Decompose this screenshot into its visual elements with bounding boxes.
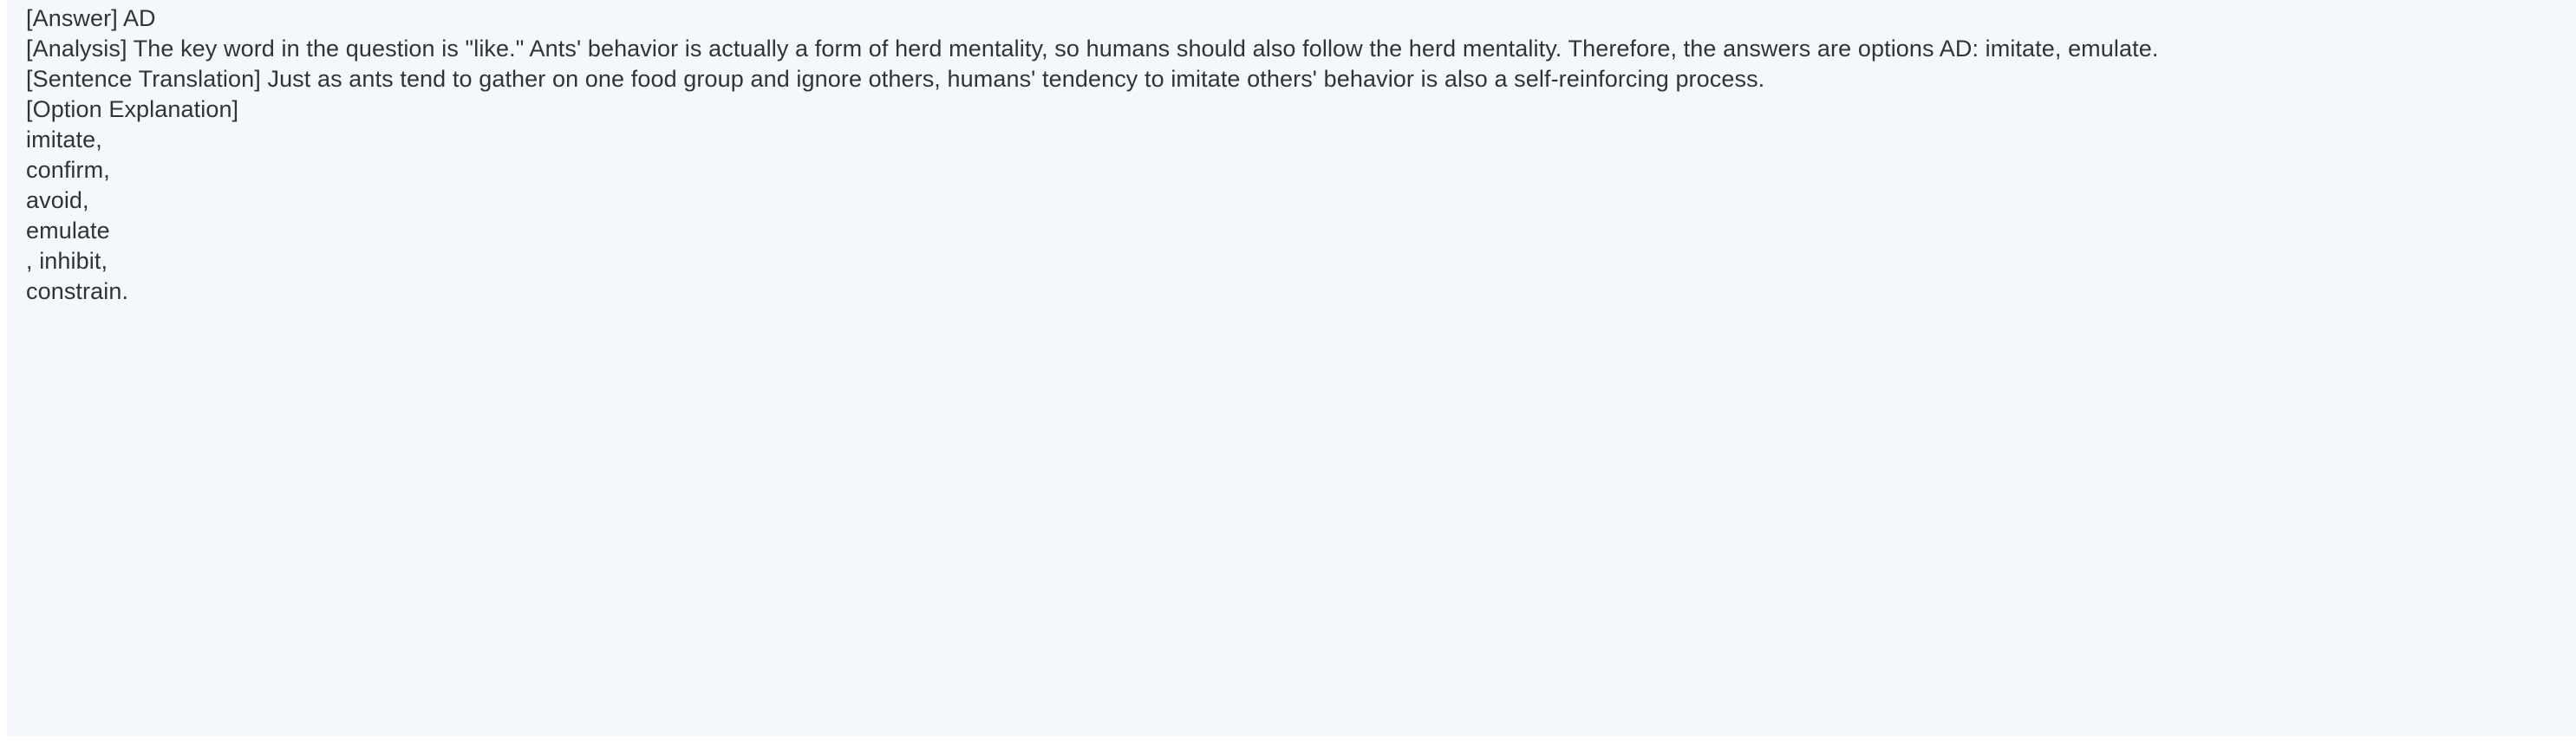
answer-line-analysis: [Analysis] The key word in the question … bbox=[26, 34, 2545, 64]
answer-line-option-constrain: constrain. bbox=[26, 276, 2553, 307]
answer-line-option-confirm: confirm, bbox=[26, 155, 2553, 185]
answer-line-option-emulate: emulate bbox=[26, 216, 2553, 246]
answer-line-sentence-translation: [Sentence Translation] Just as ants tend… bbox=[26, 64, 2545, 94]
answer-line-option-avoid: avoid, bbox=[26, 185, 2553, 216]
answer-line-option-inhibit: , inhibit, bbox=[26, 246, 2553, 276]
answer-line-option-explanation-label: [Option Explanation] bbox=[26, 94, 2553, 125]
answer-text-block: [Answer] AD [Analysis] The key word in t… bbox=[26, 3, 2553, 307]
answer-explanation-panel: [Answer] AD [Analysis] The key word in t… bbox=[7, 0, 2576, 736]
answer-line-option-imitate: imitate, bbox=[26, 125, 2553, 155]
answer-line-answer: [Answer] AD bbox=[26, 3, 2553, 34]
